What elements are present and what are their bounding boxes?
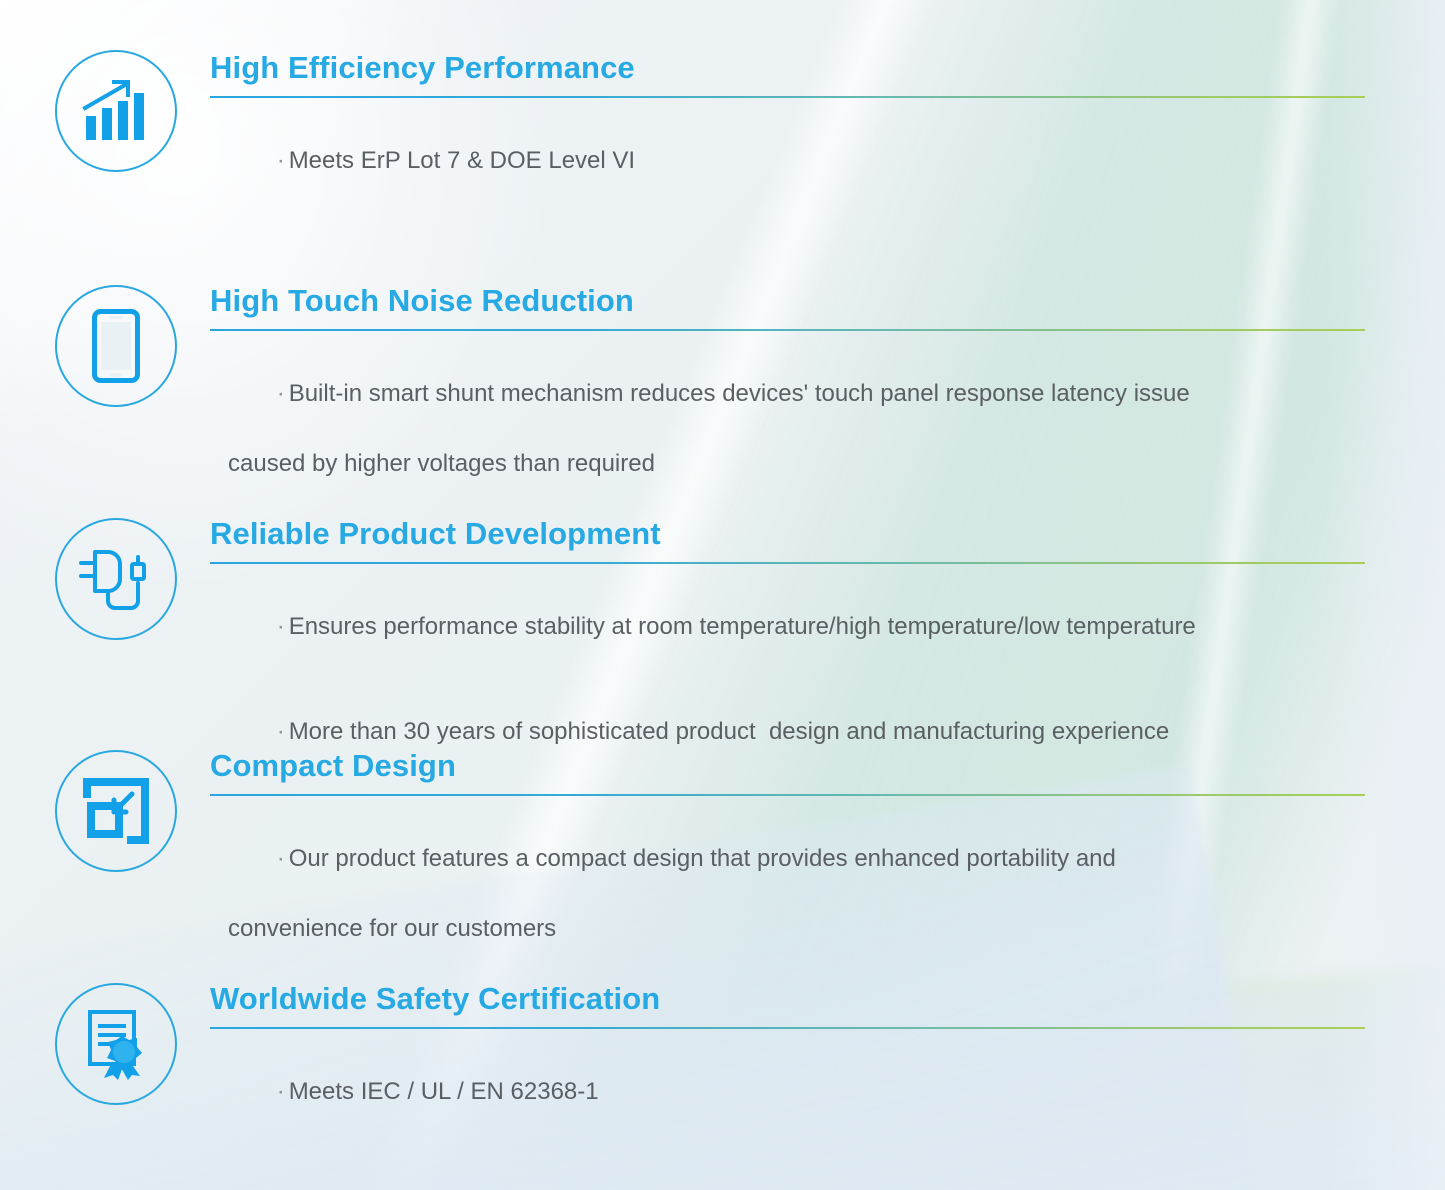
- feature-icon-2: [55, 285, 177, 407]
- feature-bullets-1: ·Meets ErP Lot 7 & DOE Level VI: [210, 110, 1365, 214]
- bullet-item: ·Meets ErP Lot 7 & DOE Level VI: [210, 110, 1365, 214]
- feature-body-5: Worldwide Safety Certification ·Meets IE…: [210, 983, 1365, 1145]
- feature-body-3: Reliable Product Development ·Ensures pe…: [210, 518, 1365, 784]
- feature-highlights-page: High Efficiency Performance ·Meets ErP L…: [0, 0, 1445, 1190]
- bullet-marker: ·: [277, 380, 289, 407]
- bullet-marker: ·: [277, 613, 289, 640]
- bullet-item: ·Ensures performance stability at room t…: [210, 576, 1365, 680]
- feature-bullets-5: ·Meets IEC / UL / EN 62368-1: [210, 1041, 1365, 1145]
- feature-divider-2: [210, 329, 1365, 331]
- bullet-text: Meets ErP Lot 7 & DOE Level VI: [289, 147, 635, 174]
- bullet-text: Our product features a compact design th…: [289, 845, 1116, 872]
- bullet-marker: ·: [277, 845, 289, 872]
- feature-divider-4: [210, 794, 1365, 796]
- feature-icon-5: [55, 983, 177, 1105]
- feature-title-4: Compact Design: [210, 750, 1365, 783]
- feature-title-5: Worldwide Safety Certification: [210, 983, 1365, 1016]
- certificate-seal-icon: [82, 1008, 150, 1080]
- bullet-marker: ·: [277, 718, 289, 745]
- feature-icon-1: [55, 50, 177, 172]
- bullet-text: Built-in smart shunt mechanism reduces d…: [289, 380, 1190, 407]
- compact-resize-icon: [83, 778, 149, 844]
- bullet-item: ·Meets IEC / UL / EN 62368-1: [210, 1041, 1365, 1145]
- feature-divider-3: [210, 562, 1365, 564]
- feature-divider-5: [210, 1027, 1365, 1029]
- bullet-text: More than 30 years of sophisticated prod…: [289, 718, 1170, 745]
- feature-icon-4: [55, 750, 177, 872]
- power-adapter-icon: [74, 543, 158, 615]
- smartphone-icon: [92, 309, 140, 383]
- bullet-text: Meets IEC / UL / EN 62368-1: [289, 1078, 599, 1105]
- bar-chart-growth-icon: [81, 78, 151, 144]
- bullet-marker: ·: [277, 147, 289, 174]
- feature-title-3: Reliable Product Development: [210, 518, 1365, 551]
- bullet-text-continuation: caused by higher voltages than required: [210, 447, 1365, 482]
- bullet-text-continuation: convenience for our customers: [210, 912, 1365, 947]
- feature-body-1: High Efficiency Performance ·Meets ErP L…: [210, 52, 1365, 214]
- bullet-text: Ensures performance stability at room te…: [289, 613, 1196, 640]
- feature-icon-3: [55, 518, 177, 640]
- feature-body-2: High Touch Noise Reduction ·Built-in sma…: [210, 285, 1365, 551]
- feature-title-1: High Efficiency Performance: [210, 52, 1365, 85]
- feature-divider-1: [210, 96, 1365, 98]
- feature-body-4: Compact Design ·Our product features a c…: [210, 750, 1365, 1016]
- bullet-marker: ·: [277, 1078, 289, 1105]
- feature-title-2: High Touch Noise Reduction: [210, 285, 1365, 318]
